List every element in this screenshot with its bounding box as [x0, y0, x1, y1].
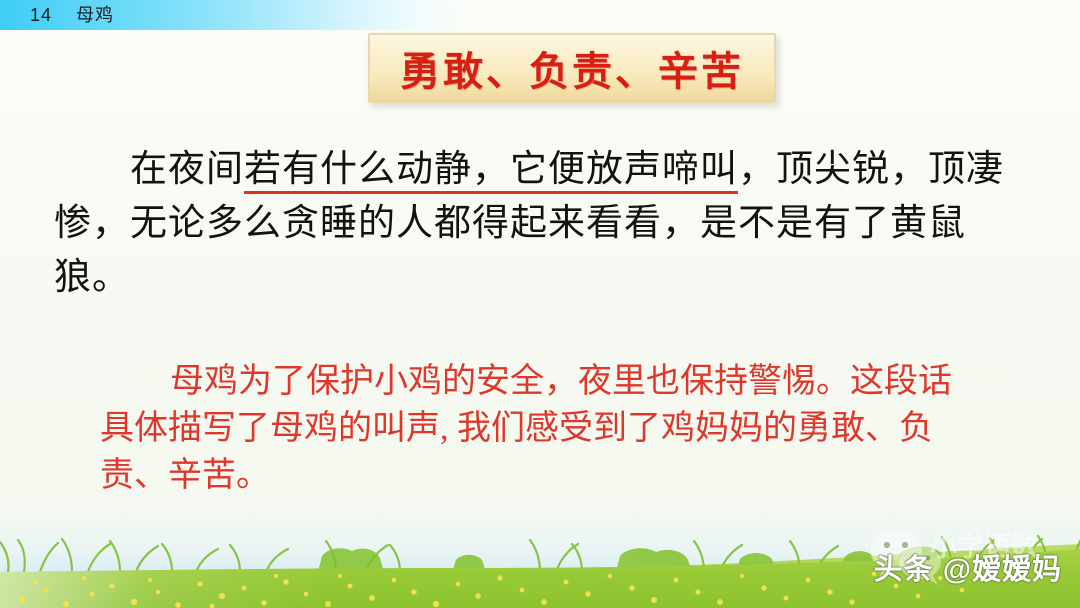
black-text-segment-1: 在夜间: [130, 149, 244, 190]
toutiao-watermark-label: 头条 @嫒嫒妈: [874, 546, 1062, 588]
red-text-line-2: 具体描写了母鸡的叫声, 我们感受到了鸡妈妈的勇敢、负: [100, 410, 933, 447]
red-text-line-3: 责、辛苦。: [100, 457, 270, 494]
header-bar: 14 母鸡: [0, 0, 1080, 30]
black-paragraph: 在夜间若有什么动静，它便放声啼叫，顶尖锐，顶凄惨，无论多么贪睡的人都得起来看看，…: [54, 143, 1029, 305]
slide-canvas: 14 母鸡 勇敢、负责、辛苦 在夜间若有什么动静，它便放声啼叫，顶尖锐，顶凄惨，…: [0, 0, 1080, 608]
title-text: 勇敢、负责、辛苦: [400, 39, 744, 97]
black-text-underlined-segment: 若有什么动静，它便放声啼叫: [244, 149, 738, 194]
red-text-line-1: 母鸡为了保护小鸡的安全，夜里也保持警惕。这段话: [170, 363, 952, 400]
title-box: 勇敢、负责、辛苦: [368, 33, 776, 103]
lesson-header-label: 14 母鸡: [30, 1, 114, 29]
red-paragraph: 母鸡为了保护小鸡的安全，夜里也保持警惕。这段话具体描写了母鸡的叫声, 我们感受到…: [100, 358, 1010, 499]
